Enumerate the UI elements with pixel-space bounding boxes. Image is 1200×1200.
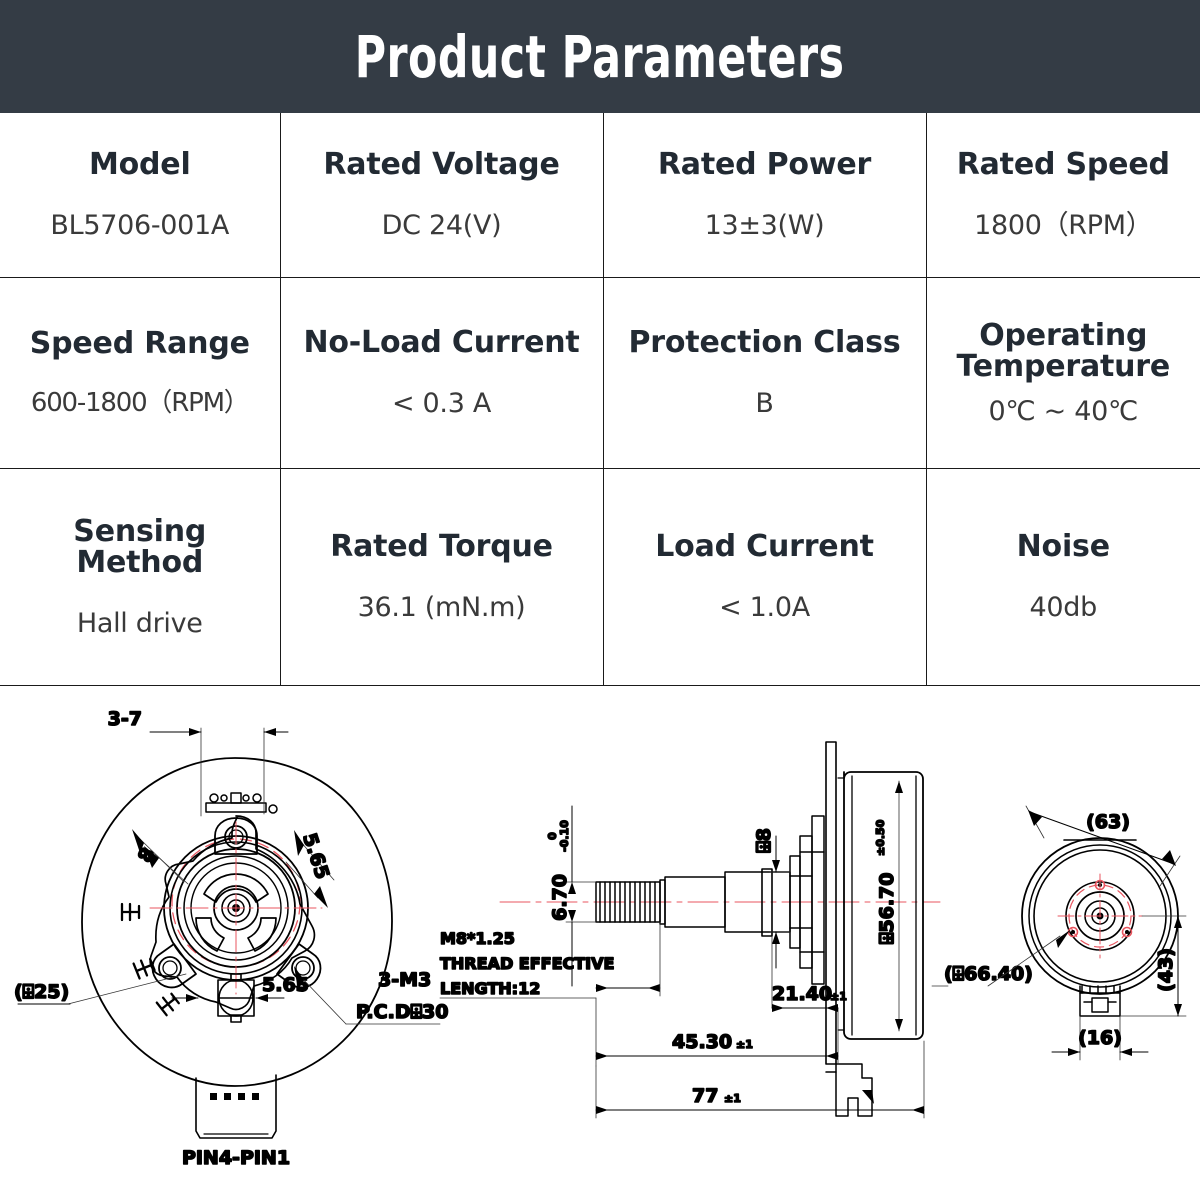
rear-dim-width: (63) [1086, 811, 1130, 833]
rear-dim-connector-width: (16) [1078, 1027, 1122, 1049]
front-dim-mount-pcd: P.C.D⌹30 [356, 1001, 448, 1023]
param-label: Load Current [655, 531, 874, 563]
param-label: No-Load Current [303, 327, 579, 359]
rear-dim-height: (43) [1155, 948, 1177, 992]
param-label: Rated Torque [330, 531, 553, 563]
param-label: Sensing Method [6, 516, 274, 579]
specification-table: Model BL5706-001A Rated Voltage DC 24(V)… [0, 113, 1200, 686]
front-dim-pin-spacing: 3-7 [108, 708, 142, 730]
param-value: 0℃ ~ 40℃ [988, 397, 1138, 427]
param-label: Rated Speed [957, 149, 1170, 181]
param-value: 40db [1030, 593, 1097, 623]
spec-cell-no-load-current: No-Load Current < 0.3 A [280, 277, 603, 468]
spec-cell-sensing-method: Sensing Method Hall drive [0, 468, 280, 685]
spec-cell-model: Model BL5706-001A [0, 113, 280, 277]
spec-cell-rated-voltage: Rated Voltage DC 24(V) [280, 113, 603, 277]
spec-cell-noise: Noise 40db [926, 468, 1200, 685]
param-value: DC 24(V) [382, 211, 502, 241]
param-label: Speed Range [30, 328, 250, 360]
side-dim-total-length: 77 [692, 1085, 718, 1107]
spec-cell-load-current: Load Current < 1.0A [603, 468, 926, 685]
side-note-thread-line2: THREAD EFFECTIVE [440, 954, 614, 973]
page-header-banner: Product Parameters [0, 0, 1200, 113]
technical-drawing: 3-7 8 5.65 [0, 686, 1200, 1200]
param-value: 600-1800（RPM） [31, 389, 249, 418]
side-dim-thread-tol-lower: -0.10 [558, 820, 571, 852]
front-dim-mount-holes: 3-M3 [378, 969, 431, 991]
param-value: B [755, 389, 773, 419]
param-value: 1800（RPM） [974, 211, 1152, 241]
front-dim-slot-a: 5.65 [298, 830, 333, 881]
param-value: 13±3(W) [705, 211, 825, 241]
param-label: Noise [1017, 531, 1110, 563]
front-dim-shaft-circle: (⌹25) [14, 981, 69, 1003]
table-row: Model BL5706-001A Rated Voltage DC 24(V)… [0, 113, 1200, 277]
param-label: Rated Power [658, 149, 871, 181]
param-value: < 0.3 A [392, 389, 491, 419]
param-label: Operating Temperature [956, 320, 1170, 383]
side-dim-shaft-length: 45.30 [672, 1031, 732, 1053]
side-note-thread-line3: LENGTH:12 [440, 979, 540, 998]
table-row: Sensing Method Hall drive Rated Torque 3… [0, 468, 1200, 685]
param-value: 36.1 (mN.m) [358, 593, 526, 623]
spec-cell-speed-range: Speed Range 600-1800（RPM） [0, 277, 280, 468]
param-label: Protection Class [629, 327, 901, 359]
param-label: Rated Voltage [323, 149, 559, 181]
side-dim-shaft-dia: ⌹8 [753, 828, 775, 853]
spec-cell-operating-temperature: Operating Temperature 0℃ ~ 40℃ [926, 277, 1200, 468]
front-label-pins: PIN4-PIN1 [182, 1147, 290, 1169]
side-dim-body-dia: ⌹56.70 [876, 873, 898, 945]
side-dim-flange-to-body-tol: ±1 [830, 990, 847, 1003]
front-dim-boss-height: 8 [134, 844, 160, 866]
side-dim-flange-to-body: 21.40 [772, 983, 832, 1005]
spec-cell-rated-power: Rated Power 13±3(W) [603, 113, 926, 277]
side-note-thread-line1: M8*1.25 [440, 929, 515, 948]
side-dim-thread-dia: 6.70 [549, 874, 571, 921]
rear-view-drawing: (63) (43) (16) [988, 806, 1186, 1060]
side-dim-outer-dia: (⌹66.40) [944, 963, 1033, 985]
side-dim-body-dia-tol: ±0.50 [874, 819, 887, 856]
spec-cell-rated-torque: Rated Torque 36.1 (mN.m) [280, 468, 603, 685]
side-dim-shaft-length-tol: ±1 [736, 1038, 753, 1051]
param-value: Hall drive [77, 609, 203, 639]
product-parameters-page: Product Parameters Model BL5706-001A Rat… [0, 0, 1200, 1200]
side-dim-total-length-tol: ±1 [724, 1092, 741, 1105]
param-value: BL5706-001A [50, 211, 229, 241]
param-value: < 1.0A [719, 593, 810, 623]
page-title: Product Parameters [355, 28, 845, 86]
side-view-drawing: 6.70 0 -0.10 M8*1.25 THREAD EFFECTIVE LE… [440, 742, 1033, 1118]
table-row: Speed Range 600-1800（RPM） No-Load Curren… [0, 277, 1200, 468]
spec-cell-rated-speed: Rated Speed 1800（RPM） [926, 113, 1200, 277]
spec-cell-protection-class: Protection Class B [603, 277, 926, 468]
front-view-drawing: 3-7 8 5.65 [14, 708, 448, 1169]
param-label: Model [89, 149, 191, 181]
